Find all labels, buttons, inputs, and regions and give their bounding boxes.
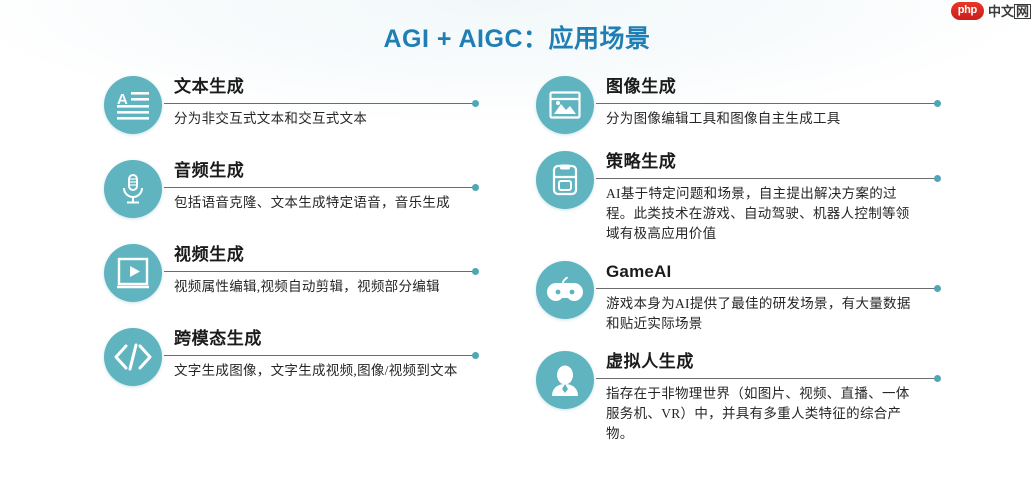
list-item-desc: 视频属性编辑,视频自动剪辑，视频部分编辑 xyxy=(174,277,474,297)
connector-rule xyxy=(174,267,474,276)
list-item[interactable]: 图像生成 分为图像编辑工具和图像自主生成工具 xyxy=(536,76,936,134)
list-item[interactable]: 跨模态生成 文字生成图像，文字生成视频,图像/视频到文本 xyxy=(104,328,474,386)
list-item-desc: 包括语音克隆、文本生成特定语音，音乐生成 xyxy=(174,193,474,213)
right-column: 图像生成 分为图像编辑工具和图像自主生成工具 策略生成 xyxy=(536,76,936,462)
list-item-desc: 文字生成图像，文字生成视频,图像/视频到文本 xyxy=(174,361,474,381)
watermark: php 中文网 xyxy=(951,2,1031,20)
connector-rule xyxy=(606,99,936,108)
list-item[interactable]: A 文本生成 分为非交互式文本和交互式文本 xyxy=(104,76,474,134)
connector-line xyxy=(596,378,936,379)
list-item[interactable]: 虚拟人生成 指存在于非物理世界（如图片、视频、直播、一体服务机、VR）中，并具有… xyxy=(536,351,936,444)
code-brackets-icon xyxy=(104,328,162,386)
list-item-title: 虚拟人生成 xyxy=(606,352,936,372)
list-item[interactable]: 策略生成 AI基于特定问题和场景，自主提出解决方案的过程。此类技术在游戏、自动驾… xyxy=(536,151,936,244)
connector-rule xyxy=(606,284,936,293)
connector-dot xyxy=(472,352,479,359)
list-item-desc: 分为图像编辑工具和图像自主生成工具 xyxy=(606,109,916,129)
video-play-icon xyxy=(104,244,162,302)
list-item-body: GameAI 游戏本身为AI提供了最佳的研发场景，有大量数据和贴近实际场景 xyxy=(606,261,936,334)
connector-dot xyxy=(472,184,479,191)
list-item-body: 跨模态生成 文字生成图像，文字生成视频,图像/视频到文本 xyxy=(174,328,474,381)
connector-line xyxy=(164,271,474,272)
connector-dot xyxy=(472,268,479,275)
list-item-desc: 游戏本身为AI提供了最佳的研发场景，有大量数据和贴近实际场景 xyxy=(606,294,916,335)
list-item-body: 视频生成 视频属性编辑,视频自动剪辑，视频部分编辑 xyxy=(174,244,474,297)
list-item[interactable]: 视频生成 视频属性编辑,视频自动剪辑，视频部分编辑 xyxy=(104,244,474,302)
list-item-body: 图像生成 分为图像编辑工具和图像自主生成工具 xyxy=(606,76,936,129)
connector-dot xyxy=(934,375,941,382)
list-item-body: 文本生成 分为非交互式文本和交互式文本 xyxy=(174,76,474,129)
list-item-body: 音频生成 包括语音克隆、文本生成特定语音，音乐生成 xyxy=(174,160,474,213)
connector-rule xyxy=(174,99,474,108)
connector-rule xyxy=(606,174,936,183)
connector-dot xyxy=(934,100,941,107)
connector-dot xyxy=(472,100,479,107)
connector-line xyxy=(164,187,474,188)
page-title: AGI + AIGC：应用场景 xyxy=(0,19,1034,55)
connector-rule xyxy=(174,183,474,192)
list-item-title: GameAI xyxy=(606,262,936,282)
connector-rule xyxy=(174,351,474,360)
list-item-title: 策略生成 xyxy=(606,152,936,172)
list-item-title: 视频生成 xyxy=(174,245,474,265)
infographic-page: php 中文网 AGI + AIGC：应用场景 A 文本生成 xyxy=(0,0,1034,500)
connector-line xyxy=(164,355,474,356)
image-picture-icon xyxy=(536,76,594,134)
php-logo-badge: php xyxy=(951,2,984,20)
person-avatar-icon xyxy=(536,351,594,409)
connector-line xyxy=(596,178,936,179)
list-item-title: 图像生成 xyxy=(606,77,936,97)
list-item-title: 音频生成 xyxy=(174,161,474,181)
connector-line xyxy=(164,103,474,104)
list-item-desc: AI基于特定问题和场景，自主提出解决方案的过程。此类技术在游戏、自动驾驶、机器人… xyxy=(606,184,916,245)
list-item[interactable]: 音频生成 包括语音克隆、文本生成特定语音，音乐生成 xyxy=(104,160,474,218)
list-item-desc: 分为非交互式文本和交互式文本 xyxy=(174,109,474,129)
connector-line xyxy=(596,103,936,104)
list-item-title: 跨模态生成 xyxy=(174,329,474,349)
text-lines-icon: A xyxy=(104,76,162,134)
list-item[interactable]: GameAI 游戏本身为AI提供了最佳的研发场景，有大量数据和贴近实际场景 xyxy=(536,261,936,334)
watermark-site-text: 中文网 xyxy=(988,4,1031,19)
connector-rule xyxy=(606,374,936,383)
connector-line xyxy=(596,288,936,289)
strategy-board-icon xyxy=(536,151,594,209)
gamepad-icon xyxy=(536,261,594,319)
list-item-body: 策略生成 AI基于特定问题和场景，自主提出解决方案的过程。此类技术在游戏、自动驾… xyxy=(606,151,936,244)
list-item-body: 虚拟人生成 指存在于非物理世界（如图片、视频、直播、一体服务机、VR）中，并具有… xyxy=(606,351,936,444)
microphone-icon xyxy=(104,160,162,218)
list-item-title: 文本生成 xyxy=(174,77,474,97)
connector-dot xyxy=(934,175,941,182)
left-column: A 文本生成 分为非交互式文本和交互式文本 xyxy=(104,76,474,412)
connector-dot xyxy=(934,285,941,292)
list-item-desc: 指存在于非物理世界（如图片、视频、直播、一体服务机、VR）中，并具有多重人类特征… xyxy=(606,384,916,445)
